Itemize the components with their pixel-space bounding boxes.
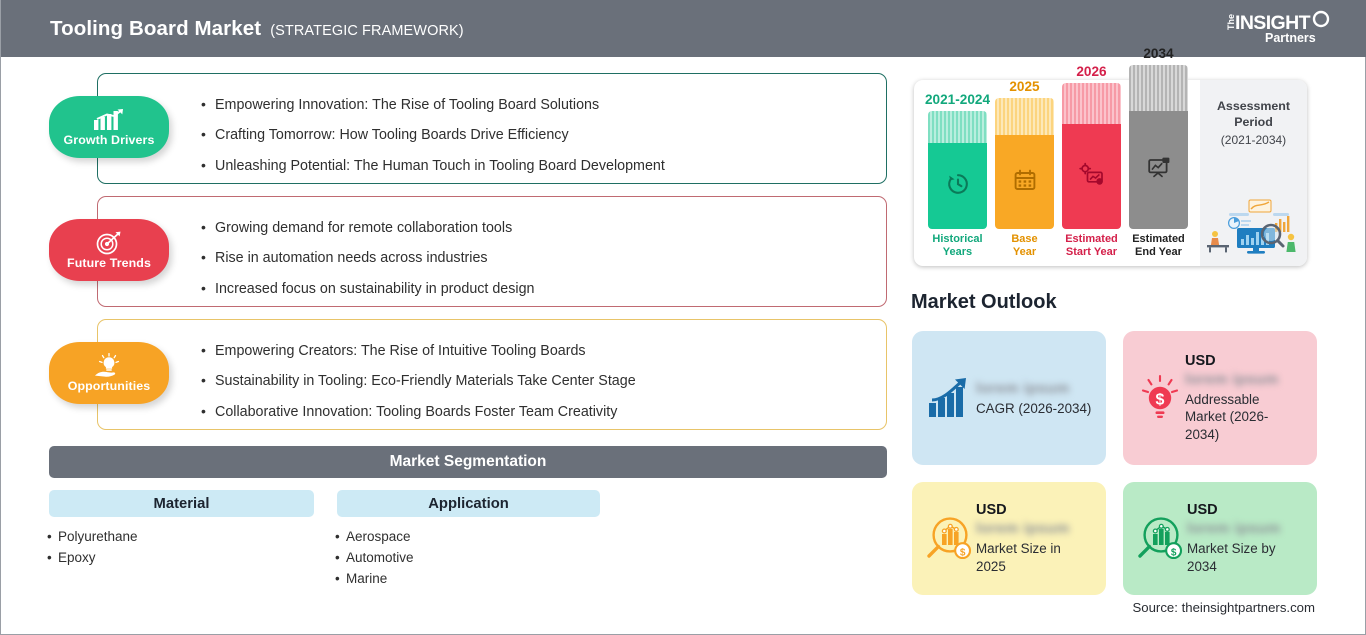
bar-label-year: 2021-2024 [925, 93, 990, 107]
market-segmentation-header: Market Segmentation [49, 446, 887, 478]
bar-stripes [928, 111, 987, 143]
bar-caption: Estimated Start Year [1065, 233, 1118, 258]
outlook-card-caption: Market Size by 2034 [1187, 540, 1291, 575]
list-item: Epoxy [47, 547, 138, 568]
list-item: Aerospace [335, 526, 414, 547]
bar-body [928, 111, 987, 229]
bar-group-historical: 2021-2024 Historical Years [928, 93, 987, 258]
outlook-card-caption: Market Size in 2025 [976, 540, 1080, 575]
assessment-period-panel: Assessment Period (2021-2034) [1200, 80, 1307, 266]
bar-solid [1129, 111, 1188, 229]
bar-group-estimated-end: 2034 Estimated En [1129, 47, 1188, 258]
badge-future-trends[interactable]: Future Trends [49, 219, 169, 281]
assessment-bar-chart: 2021-2024 Historical Years [926, 80, 1201, 266]
target-dart-icon [94, 230, 124, 255]
insight-partners-logo: The INSIGHT Partners [1221, 8, 1337, 48]
outlook-card-text: lorem ipsum CAGR (2026-2034) [976, 379, 1091, 418]
bar-stripes [1129, 65, 1188, 111]
segmentation-list-application: Aerospace Automotive Marine [335, 526, 414, 589]
list-item: Polyurethane [47, 526, 138, 547]
outlook-card-cagr[interactable]: lorem ipsum CAGR (2026-2034) [912, 331, 1106, 465]
panel-opportunities: Empowering Creators: The Rise of Intuiti… [97, 319, 887, 430]
outlook-card-text: USD lorem ipsum Market Size in 2025 [976, 502, 1080, 575]
bar-chart-growth-icon [91, 107, 127, 132]
bar-solid [995, 135, 1054, 229]
growth-drivers-list: Empowering Innovation: The Rise of Tooli… [201, 98, 665, 173]
outlook-card-currency: USD [1185, 353, 1297, 370]
page-title: Tooling Board Market [50, 17, 261, 41]
bar-body [1062, 83, 1121, 229]
bar-caption: Historical Years [932, 233, 982, 258]
bar-solid [1062, 124, 1121, 229]
list-item: Growing demand for remote collaboration … [201, 221, 535, 235]
list-item: Marine [335, 568, 414, 589]
list-item: Collaborative Innovation: Tooling Boards… [201, 405, 636, 419]
assessment-period-title: Assessment Period [1200, 98, 1307, 130]
outlook-card-currency: USD [976, 502, 1080, 519]
bar-label-year: 2025 [1009, 80, 1039, 94]
svg-text:$: $ [960, 547, 966, 558]
bar-caption: Estimated End Year [1132, 233, 1185, 258]
outlook-card-value: lorem ipsum [1187, 520, 1291, 538]
svg-text:Partners: Partners [1265, 31, 1316, 45]
opportunities-list: Empowering Creators: The Rise of Intuiti… [201, 344, 636, 419]
badge-label: Future Trends [67, 257, 151, 269]
outlook-card-text: USD lorem ipsum Market Size by 2034 [1187, 502, 1291, 575]
badge-growth-drivers[interactable]: Growth Drivers [49, 96, 169, 158]
bar-solid [928, 143, 987, 229]
outlook-card-market-size-2025[interactable]: $ USD lorem ipsum Market Size in 2025 [912, 482, 1106, 595]
outlook-card-text: USD lorem ipsum Addressable Market (2026… [1185, 353, 1297, 444]
source-attribution: Source: theinsightpartners.com [1132, 600, 1315, 615]
panel-growth-drivers: Empowering Innovation: The Rise of Tooli… [97, 73, 887, 184]
analytics-illustration [1203, 197, 1303, 260]
header-title-wrap: Tooling Board Market (STRATEGIC FRAMEWOR… [50, 17, 464, 41]
bar-stripes [995, 98, 1054, 135]
assessment-period-years: (2021-2034) [1200, 133, 1307, 147]
calendar-icon [1012, 167, 1038, 198]
outlook-card-caption: Addressable Market (2026-2034) [1185, 391, 1297, 444]
list-item: Crafting Tomorrow: How Tooling Boards Dr… [201, 128, 665, 142]
infographic-page: Tooling Board Market (STRATEGIC FRAMEWOR… [0, 0, 1366, 635]
assessment-title-line1: Assessment [1200, 98, 1307, 114]
bar-label-year: 2034 [1143, 47, 1173, 61]
badge-opportunities[interactable]: Opportunities [49, 342, 169, 404]
list-item: Empowering Innovation: The Rise of Tooli… [201, 98, 665, 112]
gear-chart-icon [1078, 161, 1105, 192]
outlook-card-market-size-2034[interactable]: $ USD lorem ipsum Market Size by 2034 [1123, 482, 1317, 595]
list-item: Unleashing Potential: The Human Touch in… [201, 159, 665, 173]
segmentation-list-material: Polyurethane Epoxy [47, 526, 138, 568]
svg-text:$: $ [1156, 392, 1165, 409]
presentation-screen-icon [1146, 155, 1172, 186]
history-clock-icon [945, 171, 971, 202]
badge-label: Growth Drivers [64, 134, 155, 146]
magnifier-chart-dollar-icon: $ [912, 514, 976, 564]
future-trends-list: Growing demand for remote collaboration … [201, 221, 535, 296]
segmentation-column-header-material: Material [49, 490, 314, 517]
lightbulb-dollar-icon: $ [1123, 374, 1185, 422]
assessment-title-line2: Period [1200, 114, 1307, 130]
outlook-card-value: lorem ipsum [976, 520, 1080, 538]
bar-chart-arrow-icon [912, 376, 976, 420]
list-item: Increased focus on sustainability in pro… [201, 282, 535, 296]
market-outlook-title: Market Outlook [911, 291, 1057, 314]
page-subtitle: (STRATEGIC FRAMEWORK) [270, 23, 464, 39]
outlook-card-value: lorem ipsum [1185, 371, 1297, 389]
bar-body [995, 98, 1054, 229]
segmentation-column-header-application: Application [337, 490, 600, 517]
bar-label-year: 2026 [1076, 65, 1106, 79]
list-item: Automotive [335, 547, 414, 568]
magnifier-chart-dollar-icon: $ [1123, 514, 1187, 564]
bar-group-base: 2025 [995, 80, 1054, 258]
assessment-period-card: 2021-2024 Historical Years [914, 80, 1307, 266]
outlook-card-caption: CAGR (2026-2034) [976, 400, 1091, 418]
bar-stripes [1062, 83, 1121, 124]
outlook-card-currency: USD [1187, 502, 1291, 519]
lightbulb-hand-icon [92, 353, 126, 378]
badge-label: Opportunities [68, 380, 151, 392]
bar-group-estimated-start: 2026 [1062, 65, 1121, 258]
list-item: Empowering Creators: The Rise of Intuiti… [201, 344, 636, 358]
outlook-card-value: lorem ipsum [976, 380, 1091, 398]
outlook-card-addressable-market[interactable]: $ USD lorem ipsum Addressable Market (20… [1123, 331, 1317, 465]
panel-future-trends: Growing demand for remote collaboration … [97, 196, 887, 307]
list-item: Rise in automation needs across industri… [201, 251, 535, 265]
svg-text:$: $ [1171, 547, 1177, 558]
list-item: Sustainability in Tooling: Eco-Friendly … [201, 374, 636, 388]
bar-caption: Base Year [1011, 233, 1037, 258]
bar-body [1129, 65, 1188, 229]
